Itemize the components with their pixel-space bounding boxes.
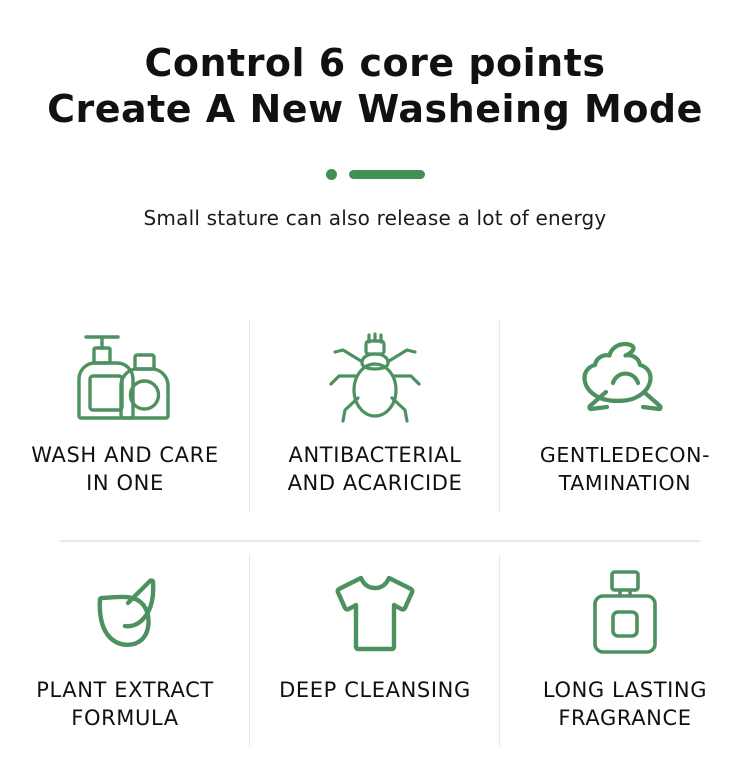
perfume-bottle-icon bbox=[573, 558, 677, 668]
dust-mite-icon bbox=[323, 323, 427, 433]
tshirt-icon bbox=[323, 558, 427, 668]
feature-cell-antibacterial[interactable]: ANTIBACTERIAL AND ACARICIDE bbox=[250, 305, 500, 540]
promo-feature-page: Control 6 core points Create A New Washe… bbox=[0, 0, 750, 741]
lotion-bottles-icon bbox=[73, 323, 177, 433]
page-subtitle: Small stature can also release a lot of … bbox=[0, 206, 750, 230]
feature-label: ANTIBACTERIAL AND ACARICIDE bbox=[282, 441, 469, 497]
page-title-line-1: Control 6 core points bbox=[0, 40, 750, 86]
page-title-line-2: Create A New Washeing Mode bbox=[0, 86, 750, 132]
cotton-boll-icon bbox=[573, 323, 677, 433]
feature-label: GENTLEDECON- TAMINATION bbox=[534, 441, 716, 497]
feature-cell-plant-extract[interactable]: PLANT EXTRACT FORMULA bbox=[0, 540, 250, 775]
dot-icon bbox=[326, 169, 337, 180]
feature-cell-gentle-decontamination[interactable]: GENTLEDECON- TAMINATION bbox=[500, 305, 750, 540]
feature-label: WASH AND CARE IN ONE bbox=[25, 441, 224, 497]
feature-label: PLANT EXTRACT FORMULA bbox=[30, 676, 220, 732]
feature-label: LONG LASTING FRAGRANCE bbox=[537, 676, 713, 732]
feature-label: DEEP CLEANSING bbox=[273, 676, 477, 704]
feature-cell-deep-cleansing[interactable]: DEEP CLEANSING bbox=[250, 540, 500, 775]
leaves-icon bbox=[73, 558, 177, 668]
feature-cell-long-lasting-fragrance[interactable]: LONG LASTING FRAGRANCE bbox=[500, 540, 750, 775]
feature-cell-wash-and-care[interactable]: WASH AND CARE IN ONE bbox=[0, 305, 250, 540]
header: Control 6 core points Create A New Washe… bbox=[0, 0, 750, 230]
feature-grid: WASH AND CARE IN ONE bbox=[0, 305, 750, 775]
title-divider bbox=[0, 168, 750, 180]
bar-icon bbox=[349, 170, 425, 179]
